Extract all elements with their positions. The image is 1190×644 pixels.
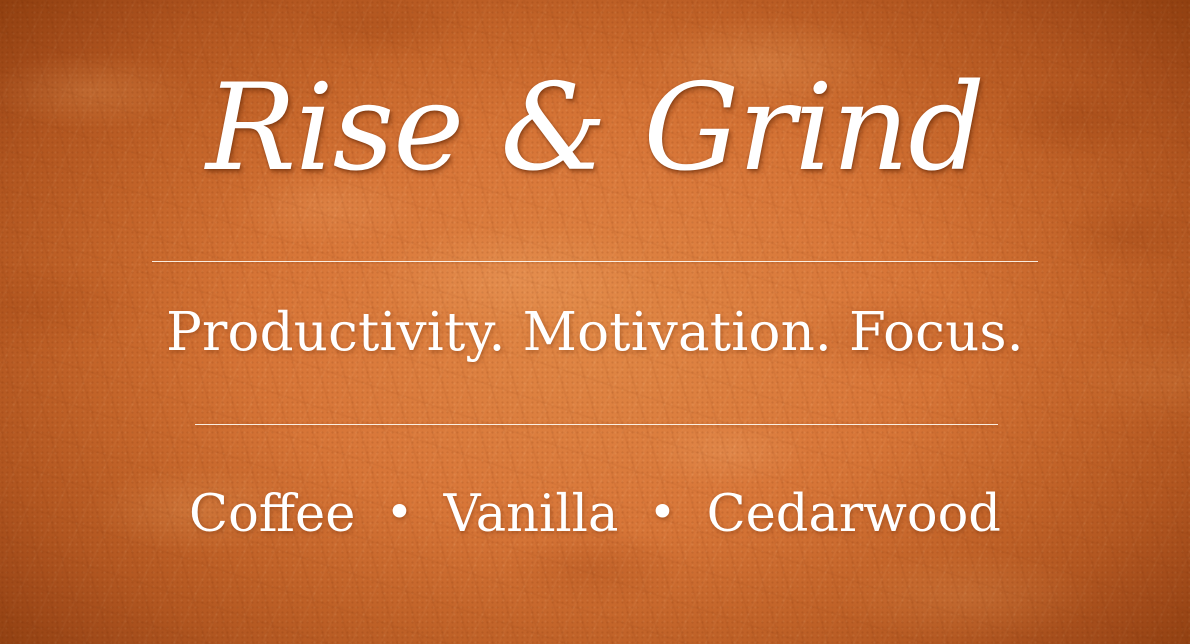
scent-notes: Coffee • Vanilla • Cedarwood	[0, 489, 1190, 540]
tagline: Productivity. Motivation. Focus.	[0, 306, 1190, 359]
brand-title: Rise & Grind	[0, 62, 1190, 196]
divider-bottom	[195, 424, 998, 425]
bullet-separator-icon: •	[635, 490, 691, 537]
scent-note-vanilla: Vanilla	[444, 485, 619, 544]
product-label-card: Rise & Grind Productivity. Motivation. F…	[0, 0, 1190, 644]
divider-top	[152, 261, 1038, 262]
scent-note-coffee: Coffee	[189, 485, 355, 544]
label-content: Rise & Grind Productivity. Motivation. F…	[0, 0, 1190, 644]
bullet-separator-icon: •	[372, 490, 428, 537]
scent-note-cedarwood: Cedarwood	[707, 485, 1001, 544]
